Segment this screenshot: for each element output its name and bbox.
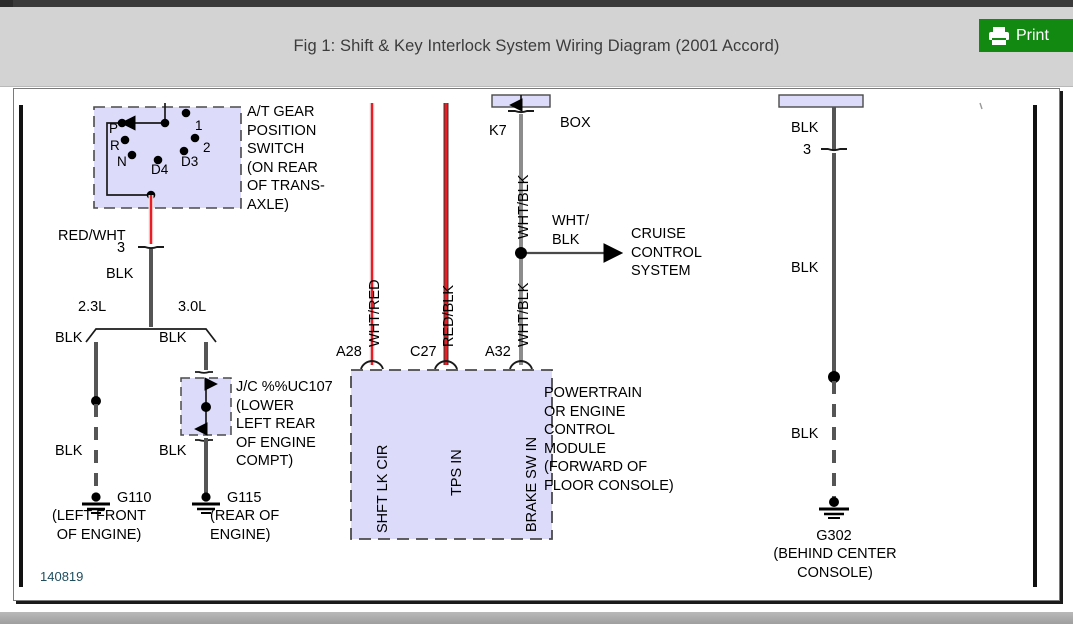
wire-label-blk-left-lower: BLK — [55, 442, 82, 461]
wire-label-wht-blk-lower: WHT/BLK — [515, 283, 534, 347]
terminal-label-1: 1 — [195, 117, 203, 136]
wire-label-red-wht: RED/WHT — [58, 227, 126, 246]
terminal-label-d4: D4 — [151, 161, 168, 180]
cruise-control-target-label: CRUISE CONTROL SYSTEM — [631, 225, 702, 281]
pin-label-a32: A32 — [485, 343, 511, 362]
junction-connector-caption: J/C %%UC107 (LOWER LEFT REAR OF ENGINE C… — [236, 378, 333, 471]
diagram-frame: A/T GEAR POSITION SWITCH (ON REAR OF TRA… — [13, 88, 1060, 601]
connector-pin-3-left: 3 — [117, 239, 125, 258]
terminal-label-n: N — [117, 153, 127, 172]
pin-label-c27: C27 — [410, 343, 437, 362]
wire-label-blk-right-mid: BLK — [791, 259, 818, 278]
pcm-pin-label-shft-lk-cir: SHFT LK CIR — [374, 445, 393, 533]
diagram-reference-number: 140819 — [40, 569, 83, 584]
engine-label-2-3l: 2.3L — [78, 298, 106, 317]
printer-icon — [989, 27, 1009, 45]
window-bottom-chrome — [0, 612, 1073, 624]
wire-label-wht-blk-upper: WHT/BLK — [515, 175, 534, 239]
ground-label-g110: G110 — [117, 489, 151, 508]
wire-label-blk-right-upper: BLK — [159, 329, 186, 348]
diagram-canvas: A/T GEAR POSITION SWITCH (ON REAR OF TRA… — [14, 89, 1060, 601]
connector-label-k7: K7 — [489, 122, 507, 141]
wire-label-blk-left-upper: BLK — [55, 329, 82, 348]
wire-label-blk-right-lower: BLK — [159, 442, 186, 461]
engine-label-3-0l: 3.0L — [178, 298, 206, 317]
gear-switch-caption: A/T GEAR POSITION SWITCH (ON REAR OF TRA… — [247, 103, 325, 215]
ground-desc-g115: (REAR OF ENGINE) — [210, 507, 279, 544]
window-top-chrome-inner — [13, 0, 1073, 7]
branch-wire-label-wht-blk: WHT/ BLK — [552, 212, 589, 249]
ground-desc-g110: (LEFT FRONT OF ENGINE) — [24, 507, 174, 544]
page-title: Fig 1: Shift & Key Interlock System Wiri… — [0, 37, 1073, 56]
connector-pin-3-right: 3 — [803, 141, 811, 160]
wire-label-blk-right-low: BLK — [791, 425, 818, 444]
wire-label-wht-red: WHT/RED — [366, 279, 385, 347]
print-button[interactable]: Print — [979, 19, 1073, 52]
window-top-chrome — [0, 0, 1073, 7]
ground-desc-g302: (BEHIND CENTER CONSOLE) — [741, 545, 929, 582]
ground-label-g115: G115 — [227, 489, 261, 508]
wire-label-red-blk: RED/BLK — [440, 285, 459, 347]
terminal-label-d3: D3 — [181, 153, 198, 172]
print-button-label: Print — [1016, 28, 1049, 44]
terminal-label-2: 2 — [203, 139, 211, 158]
terminal-label-p: P — [109, 120, 118, 139]
wire-label-blk-trunk: BLK — [106, 265, 133, 284]
wiring-diagram-viewer: Fig 1: Shift & Key Interlock System Wiri… — [0, 0, 1073, 624]
pcm-caption: POWERTRAIN OR ENGINE CONTROL MODULE (FOR… — [544, 384, 674, 496]
pcm-pin-label-tps-in: TPS IN — [448, 449, 467, 496]
ground-label-g302: G302 — [754, 527, 914, 546]
figure-header-bar: Fig 1: Shift & Key Interlock System Wiri… — [0, 7, 1073, 87]
fuse-box-label: BOX — [560, 114, 591, 133]
pin-label-a28: A28 — [336, 343, 362, 362]
pcm-pin-label-brake-sw-in: BRAKE SW IN — [523, 437, 542, 532]
wire-label-blk-right-top: BLK — [791, 119, 818, 138]
